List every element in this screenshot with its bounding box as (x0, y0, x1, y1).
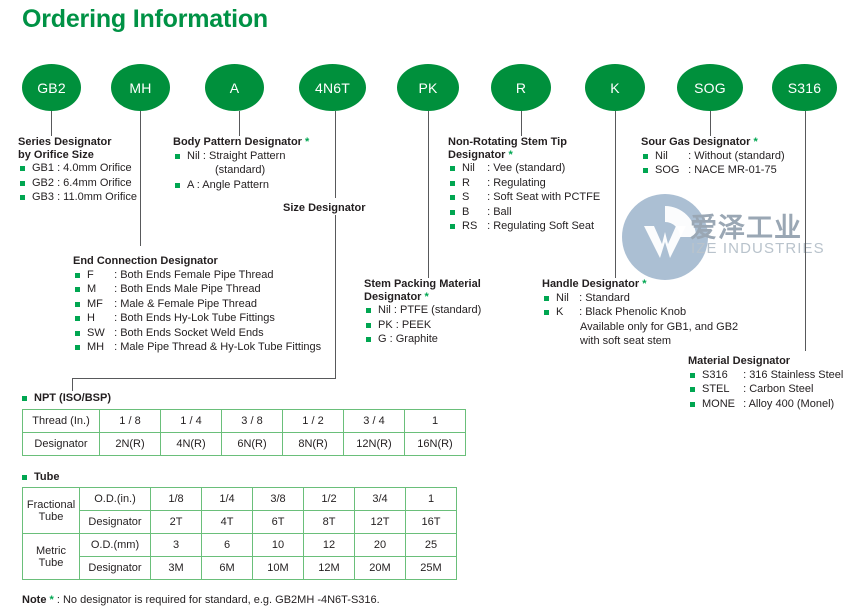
code-ellipse-label: 4N6T (315, 80, 350, 96)
item-text: Both Ends Female Pipe Thread (120, 269, 273, 281)
footnote-star: * (425, 291, 429, 303)
list-item: B : Ball (448, 205, 600, 220)
item-key: RS (462, 219, 484, 234)
table-row: Metric Tube O.D.(mm) 3 6 10 12 20 25 (23, 534, 457, 557)
ordering-information-diagram: Ordering Information 爱泽工业 IZE INDUSTRIES… (0, 0, 852, 614)
item-key: MF (87, 297, 111, 312)
item-text: Alloy 400 (Monel) (749, 398, 835, 410)
list-item: A : Angle Pattern (173, 178, 309, 193)
label-size-designator: Size Designator (283, 202, 366, 214)
block-stem-tip-designator: Non-Rotating Stem Tip Designator * Nil :… (448, 136, 600, 234)
heading-text: Sour Gas Designator (641, 136, 750, 148)
leader-line-size-bottom (335, 215, 336, 379)
code-ellipse-stem-tip: R (491, 64, 551, 111)
list-item: MONE : Alloy 400 (Monel) (688, 397, 843, 412)
item-text: Standard (585, 292, 630, 304)
item-key: MH (87, 340, 111, 355)
list-item-continuation: Available only for GB1, and GB2 (542, 320, 738, 335)
group-label-metric: Metric Tube (23, 534, 80, 580)
table-cell: 12N(R) (344, 433, 405, 456)
leader-elbow-size-drop (72, 378, 73, 391)
table-cell: 6T (253, 511, 304, 534)
table-cell: 1 (405, 410, 466, 433)
table-cell: 4T (202, 511, 253, 534)
item-key: Nil (655, 149, 685, 164)
table-cell: 8N(R) (283, 433, 344, 456)
table-cell: 4N(R) (161, 433, 222, 456)
table-cell: 3/4 (355, 488, 406, 511)
leader-line-sour-gas (710, 111, 711, 136)
item-sep: : (114, 327, 117, 339)
footnote-star: * (305, 136, 309, 148)
table-cell: 20M (355, 557, 406, 580)
item-sep: : (114, 312, 117, 324)
list-item: STEL : Carbon Steel (688, 382, 843, 397)
block-heading: Material Designator (688, 355, 843, 368)
list-item: MH : Male Pipe Thread & Hy-Lok Tube Fitt… (73, 340, 321, 355)
caption-npt-table: NPT (ISO/BSP) (20, 392, 111, 404)
block-heading: Body Pattern Designator * (173, 136, 309, 149)
item-sep: : (579, 292, 582, 304)
table-cell: 3M (151, 557, 202, 580)
table-cell: 2N(R) (100, 433, 161, 456)
item-key: SW (87, 326, 111, 341)
row-label: Designator (23, 433, 100, 456)
list-item: GB2 : 6.4mm Orifice (18, 176, 137, 191)
table-cell: 1 / 8 (100, 410, 161, 433)
continuation-text: (standard) (215, 164, 265, 176)
list-item: PK : PEEK (364, 318, 481, 333)
note-text: : No designator is required for standard… (57, 594, 380, 606)
heading-line-1: Series Designator (18, 136, 112, 148)
continuation-text: with soft seat stem (580, 335, 671, 347)
code-ellipse-label: R (516, 80, 526, 96)
heading-text: Body Pattern Designator (173, 136, 302, 148)
table-cell: 16T (406, 511, 457, 534)
list-item: F : Both Ends Female Pipe Thread (73, 268, 321, 283)
block-body-pattern-designator: Body Pattern Designator * Nil : Straight… (173, 136, 309, 192)
row-label: Thread (In.) (23, 410, 100, 433)
item-sep: : (114, 341, 117, 353)
item-text: 316 Stainless Steel (749, 369, 843, 381)
item-key: R (462, 176, 484, 191)
list-item: R : Regulating (448, 176, 600, 191)
item-key: Nil (556, 291, 576, 306)
group-label-line-1: Metric (23, 545, 79, 557)
table-cell: 3 / 8 (222, 410, 283, 433)
leader-line-handle (615, 111, 616, 278)
table-cell: 3 / 4 (344, 410, 405, 433)
item-key: S (462, 190, 484, 205)
list-item: SOG : NACE MR-01-75 (641, 163, 785, 178)
item-text: Carbon Steel (749, 383, 813, 395)
block-sour-gas-designator: Sour Gas Designator * Nil : Without (sta… (641, 136, 785, 178)
item-text: Without (standard) (694, 150, 784, 162)
item-text: Both Ends Male Pipe Thread (120, 283, 260, 295)
item-key: MONE (702, 397, 740, 412)
list-item: Nil : Standard (542, 291, 738, 306)
block-stem-packing-designator: Stem Packing Material Designator * Nil :… (364, 278, 481, 347)
table-row: Designator 2N(R) 4N(R) 6N(R) 8N(R) 12N(R… (23, 433, 466, 456)
item-text: Male & Female Pipe Thread (120, 298, 257, 310)
table-cell: 2T (151, 511, 202, 534)
code-ellipse-end-connection: MH (111, 64, 170, 111)
item-text: Male Pipe Thread & Hy-Lok Tube Fittings (120, 341, 321, 353)
heading-line-1: Stem Packing Material (364, 278, 481, 290)
block-heading: Stem Packing Material Designator * (364, 278, 481, 303)
block-series-designator: Series Designator by Orifice Size GB1 : … (18, 136, 137, 205)
table-cell: 20 (355, 534, 406, 557)
table-row: Designator 3M 6M 10M 12M 20M 25M (23, 557, 457, 580)
leader-line-series (51, 111, 52, 136)
list-item: Nil : Straight Pattern (173, 149, 309, 164)
list-item: GB1 : 4.0mm Orifice (18, 161, 137, 176)
list-item: M : Both Ends Male Pipe Thread (73, 282, 321, 297)
leader-elbow-size (72, 378, 336, 379)
list-item: GB3 : 11.0mm Orifice (18, 190, 137, 205)
table-row: Thread (In.) 1 / 8 1 / 4 3 / 8 1 / 2 3 /… (23, 410, 466, 433)
item-key: STEL (702, 382, 740, 397)
note-label: Note (22, 594, 46, 606)
leader-line-material (805, 111, 806, 351)
group-label-line-2: Tube (23, 557, 79, 569)
block-end-connection-designator: End Connection Designator F : Both Ends … (73, 255, 321, 355)
table-cell: 10M (253, 557, 304, 580)
block-handle-designator: Handle Designator * Nil : Standard K : B… (542, 278, 738, 349)
tube-table: Fractional Tube O.D.(in.) 1/8 1/4 3/8 1/… (22, 487, 457, 580)
item-sep: : (743, 383, 746, 395)
item-key: M (87, 282, 111, 297)
table-cell: 3 (151, 534, 202, 557)
list-item: Nil : PTFE (standard) (364, 303, 481, 318)
footnote-star: * (753, 136, 757, 148)
row-label: Designator (80, 557, 151, 580)
item-sep: : (487, 162, 490, 174)
item-sep: : (487, 220, 490, 232)
code-ellipse-size: 4N6T (299, 64, 366, 111)
list-item: H : Both Ends Hy-Lok Tube Fittings (73, 311, 321, 326)
table-cell: 12M (304, 557, 355, 580)
block-heading: Series Designator by Orifice Size (18, 136, 137, 161)
row-label: O.D.(in.) (80, 488, 151, 511)
group-label-fractional: Fractional Tube (23, 488, 80, 534)
list-item: Nil : Vee (standard) (448, 161, 600, 176)
item-key: S316 (702, 368, 740, 383)
list-item: G : Graphite (364, 332, 481, 347)
code-ellipse-label: GB2 (37, 80, 66, 96)
code-ellipse-material: S316 (772, 64, 837, 111)
item-text: Regulating Soft Seat (493, 220, 594, 232)
table-cell: 25M (406, 557, 457, 580)
table-cell: 1 (406, 488, 457, 511)
leader-line-end-connection (140, 111, 141, 246)
item-key: K (556, 305, 576, 320)
table-cell: 1/8 (151, 488, 202, 511)
item-sep: : (114, 269, 117, 281)
list-item: Nil : Without (standard) (641, 149, 785, 164)
code-ellipse-label: K (610, 80, 620, 96)
leader-line-body-pattern (239, 111, 240, 136)
list-item-continuation: (standard) (173, 163, 309, 178)
item-sep: : (579, 306, 582, 318)
table-cell: 10 (253, 534, 304, 557)
table-cell: 6M (202, 557, 253, 580)
table-cell: 1 / 4 (161, 410, 222, 433)
block-heading: End Connection Designator (73, 255, 321, 268)
list-item: SW : Both Ends Socket Weld Ends (73, 326, 321, 341)
item-key: H (87, 311, 111, 326)
code-ellipse-body-pattern: A (205, 64, 264, 111)
leader-line-stem-tip (521, 111, 522, 136)
group-label-line-1: Fractional (23, 499, 79, 511)
item-text: Black Phenolic Knob (585, 306, 686, 318)
code-ellipse-handle: K (585, 64, 645, 111)
code-ellipse-label: S316 (788, 80, 822, 96)
list-item-continuation: with soft seat stem (542, 334, 738, 349)
item-text: NACE MR-01-75 (694, 164, 777, 176)
continuation-text: Available only for GB1, and GB2 (580, 321, 738, 333)
table-cell: 12 (304, 534, 355, 557)
heading-line-1: Non-Rotating Stem Tip (448, 136, 567, 148)
table-cell: 3/8 (253, 488, 304, 511)
table-row: Designator 2T 4T 6T 8T 12T 16T (23, 511, 457, 534)
footnote-note: Note * : No designator is required for s… (22, 594, 380, 606)
table-cell: 8T (304, 511, 355, 534)
block-heading: Handle Designator * (542, 278, 738, 291)
table-cell: 16N(R) (405, 433, 466, 456)
item-sep: : (487, 191, 490, 203)
code-ellipse-label: SOG (694, 80, 726, 96)
table-cell: 6N(R) (222, 433, 283, 456)
npt-table: Thread (In.) 1 / 8 1 / 4 3 / 8 1 / 2 3 /… (22, 409, 466, 456)
item-text: Both Ends Socket Weld Ends (120, 327, 264, 339)
block-material-designator: Material Designator S316 : 316 Stainless… (688, 355, 843, 411)
table-cell: 12T (355, 511, 406, 534)
block-heading: Non-Rotating Stem Tip Designator * (448, 136, 600, 161)
heading-line-2: Designator (448, 149, 505, 161)
code-ellipse-label: MH (129, 80, 151, 96)
footnote-star: * (509, 149, 513, 161)
item-key: B (462, 205, 484, 220)
table-cell: 6 (202, 534, 253, 557)
list-item: S316 : 316 Stainless Steel (688, 368, 843, 383)
code-ellipse-label: PK (418, 80, 437, 96)
item-sep: : (688, 164, 691, 176)
heading-text: Handle Designator (542, 278, 639, 290)
list-item: MF : Male & Female Pipe Thread (73, 297, 321, 312)
list-item: K : Black Phenolic Knob (542, 305, 738, 320)
item-sep: : (114, 298, 117, 310)
page-title: Ordering Information (22, 5, 268, 34)
code-ellipse-series: GB2 (22, 64, 81, 111)
item-sep: : (743, 398, 746, 410)
item-text: Both Ends Hy-Lok Tube Fittings (120, 312, 275, 324)
leader-line-stem-packing (428, 111, 429, 278)
list-item: S : Soft Seat with PCTFE (448, 190, 600, 205)
leader-line-size-top (335, 111, 336, 198)
code-ellipse-label: A (230, 80, 240, 96)
row-label: O.D.(mm) (80, 534, 151, 557)
table-cell: 25 (406, 534, 457, 557)
footnote-star: * (642, 278, 646, 290)
item-text: Ball (493, 206, 511, 218)
caption-tube-table: Tube (20, 471, 59, 483)
table-row: Fractional Tube O.D.(in.) 1/8 1/4 3/8 1/… (23, 488, 457, 511)
item-text: Regulating (493, 177, 546, 189)
footnote-star: * (50, 594, 54, 606)
row-label: Designator (80, 511, 151, 534)
table-cell: 1/4 (202, 488, 253, 511)
table-cell: 1/2 (304, 488, 355, 511)
item-sep: : (743, 369, 746, 381)
item-text: Soft Seat with PCTFE (493, 191, 600, 203)
list-item: RS : Regulating Soft Seat (448, 219, 600, 234)
code-ellipse-sour-gas: SOG (677, 64, 743, 111)
code-ellipse-stem-packing: PK (397, 64, 459, 111)
heading-line-2: by Orifice Size (18, 149, 94, 161)
group-label-line-2: Tube (23, 511, 79, 523)
item-sep: : (487, 177, 490, 189)
item-key: SOG (655, 163, 685, 178)
item-key: Nil (462, 161, 484, 176)
item-text: Vee (standard) (493, 162, 565, 174)
item-key: F (87, 268, 111, 283)
table-cell: 1 / 2 (283, 410, 344, 433)
block-heading: Sour Gas Designator * (641, 136, 785, 149)
heading-line-2: Designator (364, 291, 421, 303)
item-sep: : (114, 283, 117, 295)
item-sep: : (688, 150, 691, 162)
item-sep: : (487, 206, 490, 218)
